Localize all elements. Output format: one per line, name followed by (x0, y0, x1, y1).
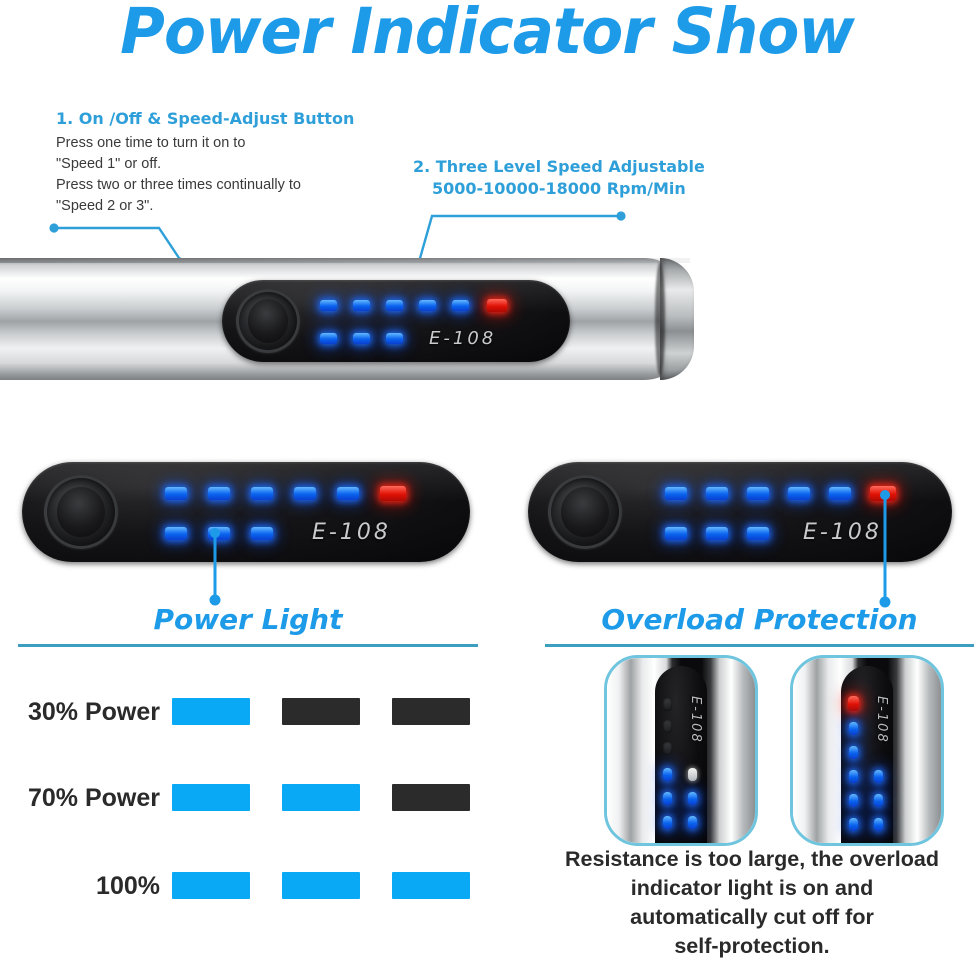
overload-photo-normal: E-108 (604, 655, 758, 846)
hero-led-top-4 (419, 300, 436, 311)
power-row-100-bar-2 (282, 872, 360, 899)
closeup-left-knob[interactable] (44, 475, 118, 549)
closeup-right-knob-inner (561, 487, 608, 537)
overload-normal-led-l6 (663, 816, 672, 829)
device-end-cap (660, 258, 694, 380)
closeup-right-led-bottom-1 (665, 527, 687, 540)
closeup-left-led-top-3 (251, 487, 273, 500)
overload-triggered-led-r1 (874, 770, 883, 783)
overload-protection-divider (545, 644, 974, 647)
overload-normal-led-l4 (663, 768, 672, 781)
overload-caption-line-4: self-protection. (530, 932, 974, 961)
overload-caption-line-3: automatically cut off for (530, 903, 974, 932)
closeup-left-led-top-5 (337, 487, 359, 500)
closeup-left-led-top-2 (208, 487, 230, 500)
overload-normal-led-r1 (688, 768, 697, 781)
power-row-100-bar-1 (172, 872, 250, 899)
closeup-right-knob[interactable] (548, 475, 622, 549)
power-row-100-bar-3 (392, 872, 470, 899)
device-body-top-shadow (0, 258, 690, 263)
overload-normal-led-l3 (663, 742, 672, 755)
callout-1-body: Press one time to turn it on to "Speed 1… (56, 133, 301, 217)
power-button-knob-inner (248, 299, 289, 343)
overload-triggered-led-l5 (849, 794, 858, 807)
closeup-left-led-bottom-3 (251, 527, 273, 540)
overload-triggered-led-l2 (849, 722, 858, 735)
closeup-right-led-top-2 (706, 487, 728, 500)
closeup-right-led-bottom-2 (706, 527, 728, 540)
overload-caption-line-1: Resistance is too large, the overload (530, 845, 974, 874)
overload-triggered-led-l3 (849, 746, 858, 759)
overload-normal-black-panel (655, 666, 707, 843)
overload-protection-caption: Resistance is too large, the overload in… (530, 845, 974, 961)
closeup-right-led-top-5 (829, 487, 851, 500)
hero-led-bottom-1 (320, 333, 337, 344)
power-row-30-bar-1 (172, 698, 250, 725)
overload-triggered-model-label: E-108 (874, 696, 889, 744)
overload-normal-led-r3 (688, 816, 697, 829)
hero-led-bottom-3 (386, 333, 403, 344)
closeup-left-model-label: E-108 (312, 520, 391, 545)
section-title-overload-protection: Overload Protection (545, 604, 974, 636)
closeup-right-led-bottom-3 (747, 527, 769, 540)
overload-triggered-led-red (848, 696, 859, 711)
section-title-power-light: Power Light (18, 604, 478, 636)
overload-normal-led-l5 (663, 792, 672, 805)
closeup-right-model-label: E-108 (803, 520, 882, 545)
hero-led-top-2 (353, 300, 370, 311)
closeup-right-panel-body: E-108 (528, 462, 952, 562)
overload-triggered-led-r3 (874, 818, 883, 831)
hero-led-overload-red (487, 299, 507, 312)
power-row-label-70: 70% Power (0, 784, 160, 812)
callout-1-line-1: Press one time to turn it on to (56, 133, 301, 154)
power-row-label-30: 30% Power (0, 698, 160, 726)
closeup-left-panel-body: E-108 (22, 462, 470, 562)
overload-normal-led-r2 (688, 792, 697, 805)
closeup-left-led-overload-red (380, 486, 406, 501)
power-row-70-bar-2 (282, 784, 360, 811)
overload-triggered-led-r2 (874, 794, 883, 807)
device-hero-image: E-108 (0, 258, 694, 380)
overload-triggered-led-l4 (849, 770, 858, 783)
closeup-left-knob-inner (57, 487, 104, 537)
closeup-right-led-top-4 (788, 487, 810, 500)
closeup-left-led-top-1 (165, 487, 187, 500)
hero-model-label: E-108 (429, 328, 496, 349)
callout-1-heading: 1. On /Off & Speed-Adjust Button (56, 108, 354, 130)
overload-normal-led-l1 (663, 698, 672, 711)
infographic-root: Power Indicator Show 1. On /Off & Speed-… (0, 0, 974, 961)
hero-led-bottom-2 (353, 333, 370, 344)
callout-1-line-4: "Speed 2 or 3". (56, 196, 301, 217)
power-light-closeup-panel: E-108 (22, 462, 470, 562)
hero-control-panel: E-108 (222, 280, 570, 362)
closeup-right-led-top-3 (747, 487, 769, 500)
overload-normal-led-l2 (663, 720, 672, 733)
power-row-70-bar-1 (172, 784, 250, 811)
overload-normal-model-label: E-108 (688, 696, 703, 744)
hero-led-top-3 (386, 300, 403, 311)
power-button-knob[interactable] (236, 289, 300, 353)
power-row-70-bar-3 (392, 784, 470, 811)
hero-led-top-5 (452, 300, 469, 311)
callout-2-heading-line-1: 2. Three Level Speed Adjustable (413, 156, 705, 178)
closeup-left-led-top-4 (294, 487, 316, 500)
closeup-left-led-bottom-2 (208, 527, 230, 540)
closeup-right-led-top-1 (665, 487, 687, 500)
page-title: Power Indicator Show (15, 0, 960, 68)
callout-1-line-3: Press two or three times continually to (56, 175, 301, 196)
power-light-divider (18, 644, 478, 647)
overload-closeup-panel: E-108 (528, 462, 952, 562)
overload-photo-triggered: E-108 (790, 655, 944, 846)
callout-1-line-2: "Speed 1" or off. (56, 154, 301, 175)
overload-triggered-led-l6 (849, 818, 858, 831)
hero-led-top-1 (320, 300, 337, 311)
callout-2-heading: 2. Three Level Speed Adjustable 5000-100… (413, 156, 705, 200)
closeup-left-led-bottom-1 (165, 527, 187, 540)
power-row-30-bar-2 (282, 698, 360, 725)
closeup-right-led-overload-red (870, 486, 896, 501)
overload-caption-line-2: indicator light is on and (530, 874, 974, 903)
power-row-label-100: 100% (0, 872, 160, 900)
power-row-30-bar-3 (392, 698, 470, 725)
callout-2-heading-line-2: 5000-10000-18000 Rpm/Min (413, 178, 705, 200)
